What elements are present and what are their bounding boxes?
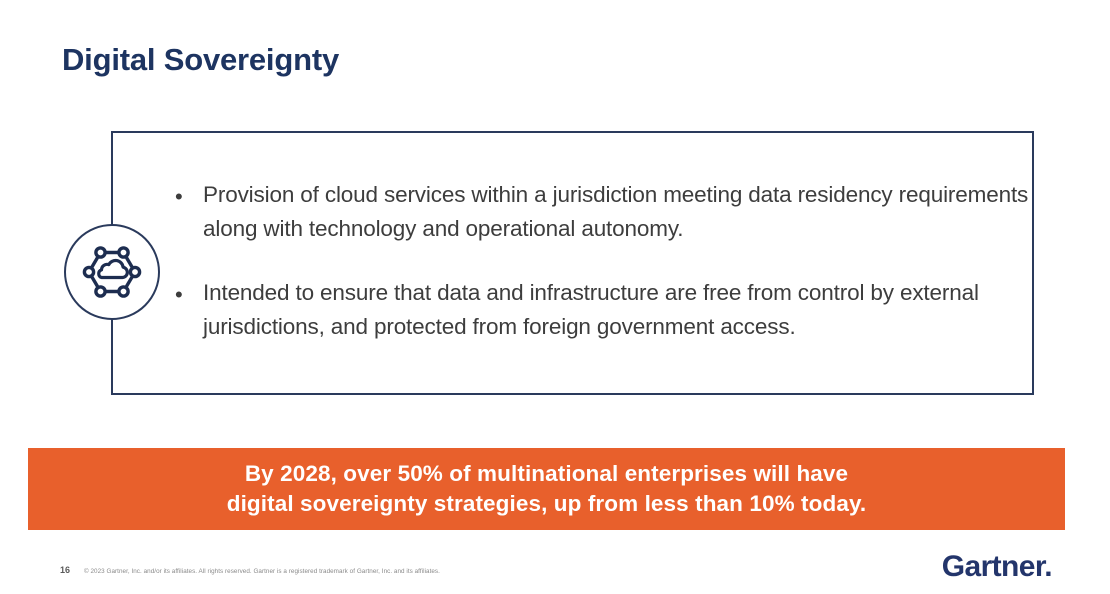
- page-number: 16: [60, 565, 70, 575]
- page-title: Digital Sovereignty: [62, 42, 339, 78]
- gartner-logo: Gartner.: [942, 550, 1052, 584]
- list-item: • Provision of cloud services within a j…: [175, 178, 1035, 246]
- list-item-text: Intended to ensure that data and infrast…: [203, 276, 1035, 344]
- cloud-network-node-icon: [64, 224, 160, 320]
- callout-banner: By 2028, over 50% of multinational enter…: [28, 448, 1065, 530]
- footer: 16 © 2023 Gartner, Inc. and/or its affil…: [60, 565, 440, 575]
- bullet-marker-icon: •: [175, 178, 203, 216]
- copyright-notice: © 2023 Gartner, Inc. and/or its affiliat…: [84, 568, 440, 575]
- list-item: • Intended to ensure that data and infra…: [175, 276, 1035, 344]
- callout-line-1: By 2028, over 50% of multinational enter…: [245, 459, 848, 489]
- callout-line-2: digital sovereignty strategies, up from …: [227, 489, 867, 519]
- bullet-marker-icon: •: [175, 276, 203, 314]
- bullet-list: • Provision of cloud services within a j…: [175, 178, 1035, 344]
- list-item-text: Provision of cloud services within a jur…: [203, 178, 1035, 246]
- slide-canvas: Digital Sovereignty: [0, 0, 1110, 594]
